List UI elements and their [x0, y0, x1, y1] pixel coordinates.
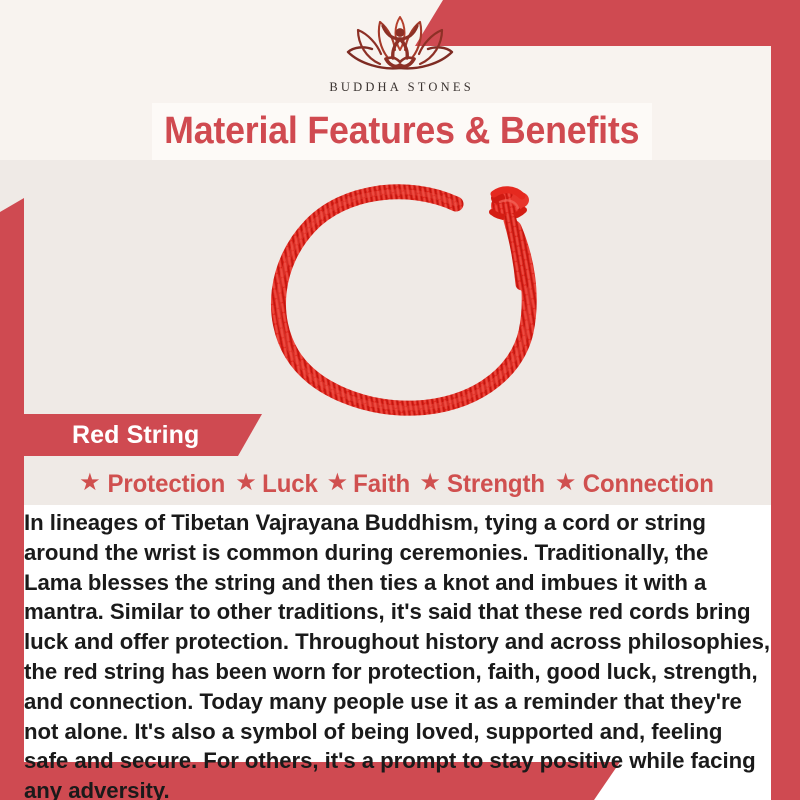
star-icon: ★: [79, 471, 101, 495]
brand-name: BUDDHA STONES: [0, 80, 800, 95]
feature-list: ★ Protection ★ Luck ★ Faith ★ Strength ★…: [24, 465, 772, 503]
feature-label: Strength: [447, 470, 545, 499]
feature-item-connection: ★ Connection: [552, 470, 720, 499]
product-image-area: [0, 160, 800, 425]
infographic-card: BUDDHA STONES Material Features & Benefi…: [0, 0, 800, 800]
description-paragraph: In lineages of Tibetan Vajrayana Buddhis…: [24, 508, 772, 800]
feature-label: Protection: [107, 470, 225, 499]
feature-label: Faith: [353, 470, 410, 499]
feature-item-luck: ★ Luck: [232, 470, 321, 499]
star-icon: ★: [555, 471, 577, 495]
feature-label: Luck: [262, 470, 318, 499]
title-banner: Material Features & Benefits: [152, 103, 652, 160]
ribbon-red-string: Red String: [0, 414, 262, 456]
feature-item-faith: ★ Faith: [324, 470, 415, 499]
brand-logo: BUDDHA STONES: [0, 14, 800, 95]
feature-item-strength: ★ Strength: [416, 470, 550, 499]
feature-item-protection: ★ Protection: [76, 470, 230, 499]
page-title: Material Features & Benefits: [164, 110, 639, 153]
lotus-meditation-figure-icon: [330, 14, 470, 76]
star-icon: ★: [419, 471, 441, 495]
ribbon-label: Red String: [72, 421, 199, 450]
feature-label: Connection: [583, 470, 714, 499]
red-string-bracelet-image: [248, 168, 578, 423]
star-icon: ★: [327, 471, 349, 495]
star-icon: ★: [235, 471, 257, 495]
